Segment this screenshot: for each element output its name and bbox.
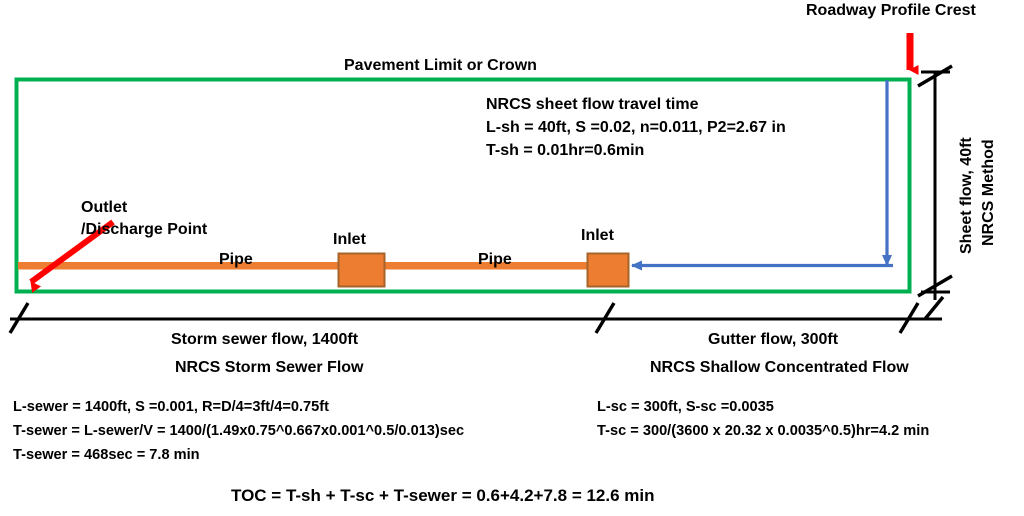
outlet-label-line1: Outlet bbox=[81, 199, 127, 218]
gutter-method-label: NRCS Shallow Concentrated Flow bbox=[650, 359, 909, 378]
sheet-flow-note-line3: T-sh = 0.01hr=0.6min bbox=[486, 142, 644, 161]
inlet-right-label: Inlet bbox=[581, 227, 614, 246]
storm-sewer-dimension-label: Storm sewer flow, 1400ft bbox=[171, 331, 358, 350]
toc-total-equation: TOC = T-sh + T-sc + T-sewer = 0.6+4.2+7.… bbox=[231, 486, 655, 506]
sewer-calc-line2: T-sewer = L-sewer/V = 1400/(1.49x0.75^0.… bbox=[13, 420, 464, 444]
sheet-flow-vertical-label-line1: Sheet flow, 40ft bbox=[958, 137, 977, 254]
sheet-flow-vertical-label-line2: NRCS Method bbox=[980, 139, 999, 246]
sewer-calc-line1: L-sewer = 1400ft, S =0.001, R=D/4=3ft/4=… bbox=[13, 396, 329, 420]
outlet-label-line2: /Discharge Point bbox=[81, 221, 207, 240]
shallow-calc-line1: L-sc = 300ft, S-sc =0.0035 bbox=[597, 396, 774, 420]
storm-sewer-pipe bbox=[18, 262, 608, 270]
sewer-calc-line3: T-sewer = 468sec = 7.8 min bbox=[13, 444, 200, 468]
roadway-profile-crest-label: Roadway Profile Crest bbox=[806, 2, 976, 21]
storm-sewer-method-label: NRCS Storm Sewer Flow bbox=[175, 359, 363, 378]
inlet-left-label: Inlet bbox=[333, 231, 366, 250]
pavement-limit-label: Pavement Limit or Crown bbox=[344, 57, 537, 76]
pipe-label-right: Pipe bbox=[478, 251, 512, 270]
pavement-boundary-rect bbox=[17, 80, 910, 292]
pipe-label-left: Pipe bbox=[219, 251, 253, 270]
shallow-calc-line2: T-sc = 300/(3600 x 20.32 x 0.0035^0.5)hr… bbox=[597, 420, 929, 444]
inlet-left-box bbox=[339, 254, 385, 287]
sheet-flow-note-line2: L-sh = 40ft, S =0.02, n=0.011, P2=2.67 i… bbox=[486, 119, 786, 138]
dimension-tick-far-right bbox=[925, 297, 943, 319]
diagram-canvas: Roadway Profile Crest Pavement Limit or … bbox=[0, 0, 1024, 516]
gutter-dimension-label: Gutter flow, 300ft bbox=[708, 331, 838, 350]
inlet-right-box bbox=[588, 254, 629, 287]
sheet-flow-note-line1: NRCS sheet flow travel time bbox=[486, 96, 699, 115]
